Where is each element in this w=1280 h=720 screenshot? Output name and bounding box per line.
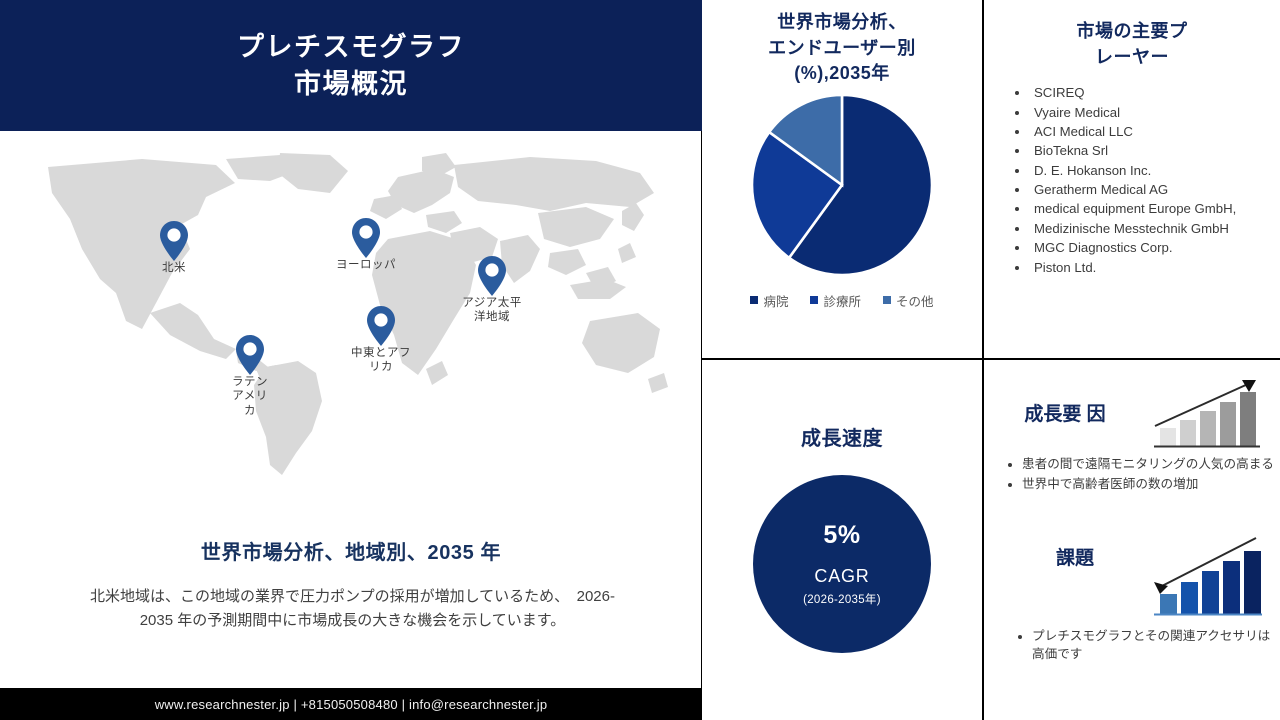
end-user-pie-panel: 世界市場分析、 エンドユーザー別 (%),2035年 病院診療所その他	[702, 0, 983, 359]
map-pin-latin-america[interactable]: ラテン アメリ カ	[228, 334, 272, 418]
cagr-badge: 5% CAGR (2026-2035年)	[753, 475, 931, 653]
growth-rate-panel: 成長速度 5% CAGR (2026-2035年)	[702, 359, 983, 720]
key-players-title: 市場の主要プ レーヤー	[984, 18, 1280, 70]
pie-chart-legend: 病院診療所その他	[702, 291, 982, 310]
map-pin-middle-east-africa[interactable]: 中東とアフ リカ	[359, 305, 403, 375]
pie-legend-label: 病院	[763, 291, 788, 310]
report-title-line-2: 市場概況	[294, 66, 408, 102]
map-pin-asia-pacific[interactable]: アジア太平 洋地域	[470, 255, 514, 325]
cagr-label: CAGR	[814, 566, 869, 587]
key-players-list-item: Medizinische Messtechnik GmbH	[1030, 220, 1280, 239]
world-map: 北米 ヨーロッパ アジア太平 洋地域	[0, 131, 702, 531]
map-marker-icon	[159, 220, 189, 262]
map-pin-europe[interactable]: ヨーロッパ	[344, 217, 388, 272]
pie-legend-label: 診療所	[823, 291, 861, 310]
key-players-list-item: Vyaire Medical	[1030, 104, 1280, 123]
key-players-list-item: ACI Medical LLC	[1030, 123, 1280, 142]
map-marker-icon	[366, 305, 396, 347]
key-players-list: SCIREQVyaire MedicalACI Medical LLCBioTe…	[984, 84, 1280, 277]
key-players-list-item: Piston Ltd.	[1030, 259, 1280, 278]
map-pin-north-america[interactable]: 北米	[152, 220, 196, 275]
key-players-list-item: SCIREQ	[1030, 84, 1280, 103]
cagr-period: (2026-2035年)	[803, 591, 881, 607]
growth-driver-item: 患者の間で遠隔モニタリングの人気の高まる	[1022, 456, 1276, 474]
contact-footer: www.researchnester.jp | +815050508480 | …	[0, 688, 702, 720]
infographic-root: プレチスモグラフ 市場概況	[0, 0, 1280, 720]
pie-legend-item[interactable]: 診療所	[810, 291, 861, 310]
key-players-list-item: medical equipment Europe GmbH,	[1030, 200, 1280, 219]
key-players-list-item: D. E. Hokanson Inc.	[1030, 162, 1280, 181]
map-pin-label-north-america: 北米	[141, 261, 207, 275]
regional-caption-heading: 世界市場分析、地域別、2035 年	[0, 536, 702, 565]
pie-legend-swatch	[750, 296, 758, 304]
regional-caption-body: 北米地域は、この地域の業界で圧力ポンプの採用が増加しているため、 2026-20…	[90, 585, 615, 634]
key-players-list-item: Geratherm Medical AG	[1030, 181, 1280, 200]
map-pin-label-latin-america: ラテン アメリ カ	[226, 375, 274, 418]
pie-chart	[750, 93, 934, 277]
drivers-and-challenges-panel: 成長要 因 患者の間で遠隔モニタリングの人気の高まる世界中で高齢者医師の数の増加…	[983, 359, 1280, 720]
pie-chart-svg	[750, 93, 934, 277]
growth-drivers-list: 患者の間で遠隔モニタリングの人気の高まる世界中で高齢者医師の数の増加	[984, 456, 1276, 496]
map-marker-icon	[235, 334, 265, 376]
map-pin-label-middle-east-africa: 中東とアフ リカ	[346, 346, 416, 375]
challenges-list: プレチスモグラフとその関連アクセサリは高価です	[984, 628, 1276, 666]
challenge-item: プレチスモグラフとその関連アクセサリは高価です	[1032, 628, 1276, 664]
key-players-panel: 市場の主要プ レーヤー SCIREQVyaire MedicalACI Medi…	[983, 0, 1280, 359]
cagr-percent: 5%	[823, 521, 860, 550]
growth-rate-title: 成長速度	[702, 422, 982, 451]
pie-legend-swatch	[883, 296, 891, 304]
pie-legend-item[interactable]: 病院	[750, 291, 788, 310]
growth-trend-chart-icon	[1152, 372, 1262, 450]
map-marker-icon	[351, 217, 381, 259]
pie-legend-label: その他	[896, 291, 934, 310]
key-players-list-item: BioTekna Srl	[1030, 142, 1280, 161]
map-pin-label-europe: ヨーロッパ	[323, 258, 409, 272]
growth-drivers-title: 成長要 因	[1010, 402, 1120, 428]
report-title-line-1: プレチスモグラフ	[237, 29, 465, 65]
challenges-trend-chart-icon	[1152, 536, 1262, 618]
contact-footer-text: www.researchnester.jp | +815050508480 | …	[155, 697, 548, 712]
map-pin-label-asia-pacific: アジア太平 洋地域	[457, 296, 527, 325]
pie-legend-swatch	[810, 296, 818, 304]
map-marker-icon	[477, 255, 507, 297]
regional-overview-panel: プレチスモグラフ 市場概況	[0, 0, 702, 720]
pie-panel-title: 世界市場分析、 エンドユーザー別 (%),2035年	[702, 10, 982, 87]
key-players-list-item: MGC Diagnostics Corp.	[1030, 239, 1280, 258]
growth-driver-item: 世界中で高齢者医師の数の増加	[1022, 476, 1276, 494]
pie-legend-item[interactable]: その他	[883, 291, 934, 310]
report-title-bar: プレチスモグラフ 市場概況	[0, 0, 702, 131]
world-map-landmasses	[30, 153, 670, 483]
challenges-title: 課題	[1020, 546, 1130, 572]
